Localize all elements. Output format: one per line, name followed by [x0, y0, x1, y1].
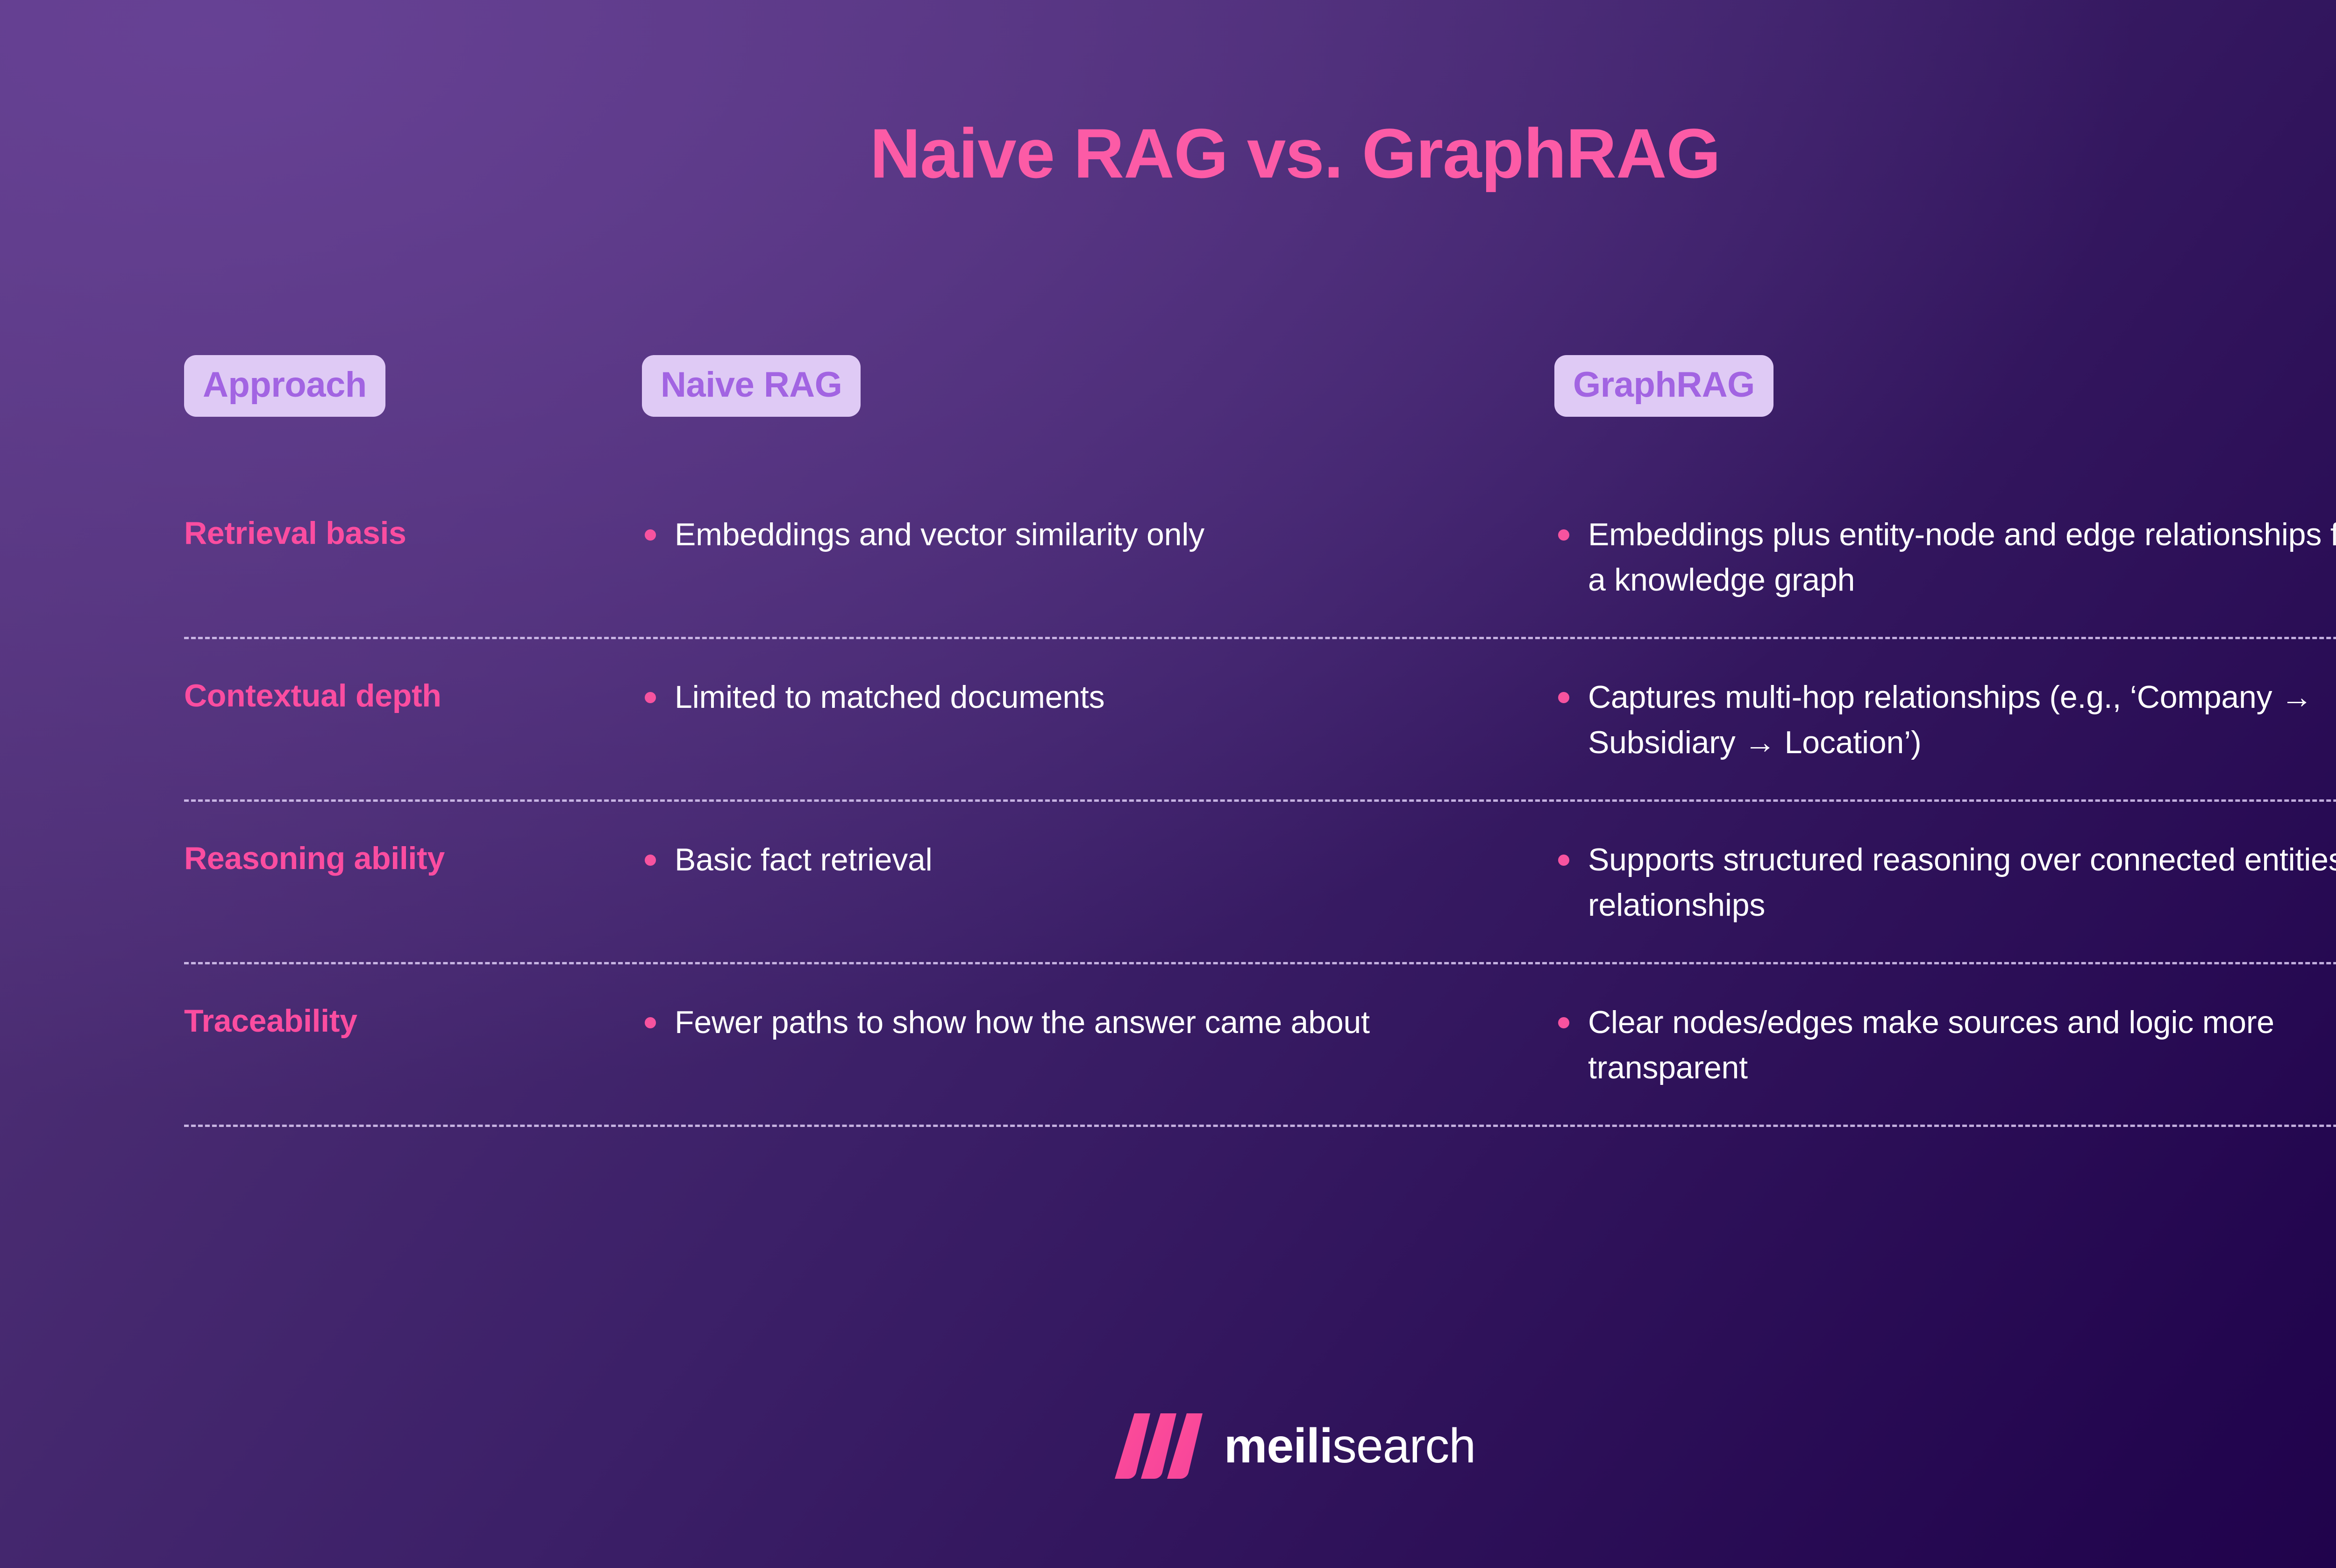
row-cell-naive: Limited to matched documents: [641, 675, 1554, 720]
header-cell-graphrag: GraphRAG: [1554, 355, 2336, 417]
row-label: Retrieval basis: [184, 512, 641, 553]
pill-approach: Approach: [184, 355, 385, 417]
list-item-text: Embeddings plus entity-node and edge rel…: [1588, 517, 2336, 598]
brand-search: search: [1332, 1419, 1475, 1473]
pill-naive-rag: Naive RAG: [642, 355, 861, 417]
row-cell-naive: Embeddings and vector similarity only: [641, 512, 1554, 557]
list-item: Fewer paths to show how the answer came …: [641, 1000, 1554, 1045]
bullet-list: Supports structured reasoning over conne…: [1554, 837, 2336, 927]
table-row: Contextual depth Limited to matched docu…: [184, 639, 2336, 799]
list-item-text: Limited to matched documents: [675, 679, 1104, 715]
bullet-dot-icon: [645, 1017, 656, 1028]
list-item-text: Captures multi-hop relationships (e.g., …: [1588, 679, 2313, 760]
bullet-list: Embeddings plus entity-node and edge rel…: [1554, 512, 2336, 602]
list-item-text: Embeddings and vector similarity only: [675, 517, 1204, 552]
table-header-row: Approach Naive RAG GraphRAG: [184, 355, 2336, 477]
list-item: Clear nodes/edges make sources and logic…: [1554, 1000, 2336, 1090]
bullet-dot-icon: [1558, 1017, 1569, 1028]
bullet-list: Clear nodes/edges make sources and logic…: [1554, 1000, 2336, 1090]
bullet-dot-icon: [645, 855, 656, 866]
slide-root: Naive RAG vs. GraphRAG Approach Naive RA…: [0, 0, 2336, 1568]
list-item-text: Supports structured reasoning over conne…: [1588, 842, 2336, 923]
list-item: Supports structured reasoning over conne…: [1554, 837, 2336, 927]
list-item: Limited to matched documents: [641, 675, 1554, 720]
brand-wordmark: meilisearch: [1224, 1422, 1475, 1470]
row-cell-graph: Captures multi-hop relationships (e.g., …: [1554, 675, 2336, 765]
header-cell-naive-rag: Naive RAG: [641, 355, 1554, 417]
bullet-list: Basic fact retrieval: [641, 837, 1554, 883]
row-cell-graph: Embeddings plus entity-node and edge rel…: [1554, 512, 2336, 602]
row-label: Traceability: [184, 1000, 641, 1041]
bullet-list: Embeddings and vector similarity only: [641, 512, 1554, 557]
table-row: Reasoning ability Basic fact retrieval S…: [184, 802, 2336, 962]
bullet-dot-icon: [1558, 692, 1569, 703]
pill-graphrag: GraphRAG: [1554, 355, 1773, 417]
bullet-dot-icon: [1558, 855, 1569, 866]
row-label-cell: Retrieval basis: [184, 512, 641, 553]
row-label-cell: Contextual depth: [184, 675, 641, 715]
bullet-dot-icon: [645, 529, 656, 541]
bullet-list: Captures multi-hop relationships (e.g., …: [1554, 675, 2336, 765]
list-item: Captures multi-hop relationships (e.g., …: [1554, 675, 2336, 765]
table-row: Traceability Fewer paths to show how the…: [184, 964, 2336, 1125]
list-item-text: Clear nodes/edges make sources and logic…: [1588, 1005, 2274, 1085]
meilisearch-logo-icon: [1115, 1413, 1204, 1479]
bullet-list: Limited to matched documents: [641, 675, 1554, 720]
header-cell-approach: Approach: [184, 355, 641, 417]
row-cell-graph: Supports structured reasoning over conne…: [1554, 837, 2336, 927]
footer-branding: meilisearch: [0, 1413, 2336, 1479]
brand-meili: meili: [1224, 1419, 1332, 1473]
row-label: Contextual depth: [184, 675, 641, 715]
list-item-text: Basic fact retrieval: [675, 842, 933, 877]
list-item: Embeddings and vector similarity only: [641, 512, 1554, 557]
comparison-table: Approach Naive RAG GraphRAG Retrieval ba…: [184, 355, 2336, 1127]
bullet-list: Fewer paths to show how the answer came …: [641, 1000, 1554, 1045]
row-label-cell: Traceability: [184, 1000, 641, 1041]
table-row: Retrieval basis Embeddings and vector si…: [184, 477, 2336, 637]
list-item-text: Fewer paths to show how the answer came …: [675, 1005, 1370, 1040]
row-cell-naive: Fewer paths to show how the answer came …: [641, 1000, 1554, 1045]
list-item: Embeddings plus entity-node and edge rel…: [1554, 512, 2336, 602]
row-divider: [184, 1125, 2336, 1127]
bullet-dot-icon: [645, 692, 656, 703]
page-title: Naive RAG vs. GraphRAG: [0, 117, 2336, 191]
row-cell-naive: Basic fact retrieval: [641, 837, 1554, 883]
bullet-dot-icon: [1558, 529, 1569, 541]
row-cell-graph: Clear nodes/edges make sources and logic…: [1554, 1000, 2336, 1090]
list-item: Basic fact retrieval: [641, 837, 1554, 883]
row-label-cell: Reasoning ability: [184, 837, 641, 878]
row-label: Reasoning ability: [184, 837, 641, 878]
